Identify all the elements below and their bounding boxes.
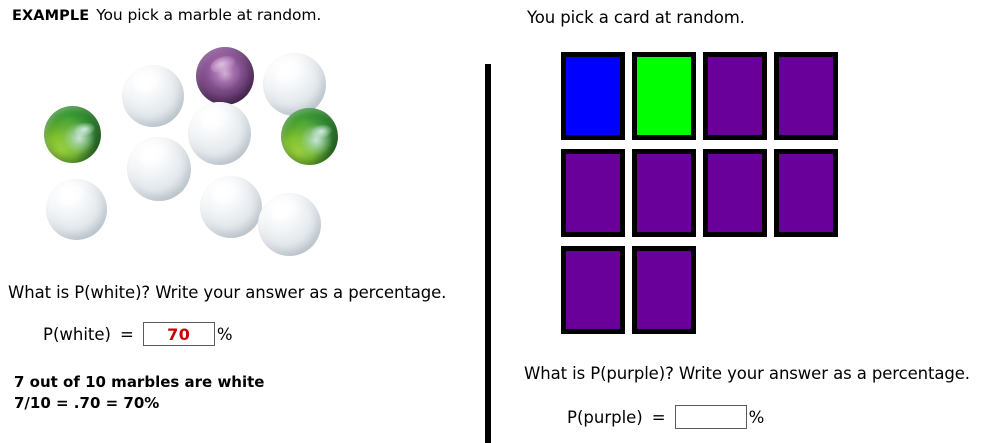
marble-white-4 xyxy=(127,137,191,201)
marble-green-1 xyxy=(44,106,101,163)
card-purple-2 xyxy=(774,52,838,140)
card-purple-8 xyxy=(632,246,696,334)
explanation-line-2: 7/10 = .70 = 70% xyxy=(14,393,264,414)
question-white-text: What is P(white)? Write your answer as a… xyxy=(8,283,446,302)
right-panel-cards: You pick a card at random. What is P(pur… xyxy=(491,0,1005,443)
marble-white-6 xyxy=(200,176,262,238)
answer-row-white: P(white) = 70 % xyxy=(43,322,233,346)
card-prompt: You pick a card at random. xyxy=(527,8,745,27)
p-purple-label: P(purple) xyxy=(567,408,643,427)
left-panel-marbles: EXAMPLEYou pick a marble at random. What… xyxy=(0,0,486,443)
marble-green-2 xyxy=(281,108,338,165)
question-purple-text: What is P(purple)? Write your answer as … xyxy=(524,364,970,383)
p-white-input[interactable]: 70 xyxy=(143,322,215,346)
marble-white-3 xyxy=(188,102,251,165)
card-purple-5 xyxy=(703,149,767,237)
p-white-value: 70 xyxy=(167,325,190,344)
example-tag: EXAMPLE xyxy=(12,8,89,24)
marble-white-5 xyxy=(46,179,107,240)
marble-purple-1 xyxy=(196,47,254,105)
p-white-label: P(white) xyxy=(43,325,111,344)
worksheet-canvas: EXAMPLEYou pick a marble at random. What… xyxy=(0,0,1005,443)
percent-sign-purple: % xyxy=(749,408,765,427)
card-green-1 xyxy=(632,52,696,140)
explanation-block: 7 out of 10 marbles are white 7/10 = .70… xyxy=(14,372,264,414)
marble-white-2 xyxy=(263,53,326,116)
card-grid xyxy=(561,52,861,342)
card-purple-1 xyxy=(703,52,767,140)
answer-row-purple: P(purple) = % xyxy=(567,405,764,429)
percent-sign-white: % xyxy=(217,325,233,344)
example-header: EXAMPLEYou pick a marble at random. xyxy=(12,6,321,24)
example-prompt: You pick a marble at random. xyxy=(96,6,321,24)
explanation-line-1: 7 out of 10 marbles are white xyxy=(14,372,264,393)
card-blue-1 xyxy=(561,52,625,140)
p-purple-input[interactable] xyxy=(675,405,747,429)
marble-white-7 xyxy=(258,193,321,256)
marble-white-1 xyxy=(122,65,184,127)
marble-field xyxy=(0,40,470,240)
equals-sign-purple: = xyxy=(652,408,666,427)
card-purple-4 xyxy=(632,149,696,237)
equals-sign-white: = xyxy=(120,325,134,344)
card-purple-7 xyxy=(561,246,625,334)
card-purple-3 xyxy=(561,149,625,237)
card-purple-6 xyxy=(774,149,838,237)
